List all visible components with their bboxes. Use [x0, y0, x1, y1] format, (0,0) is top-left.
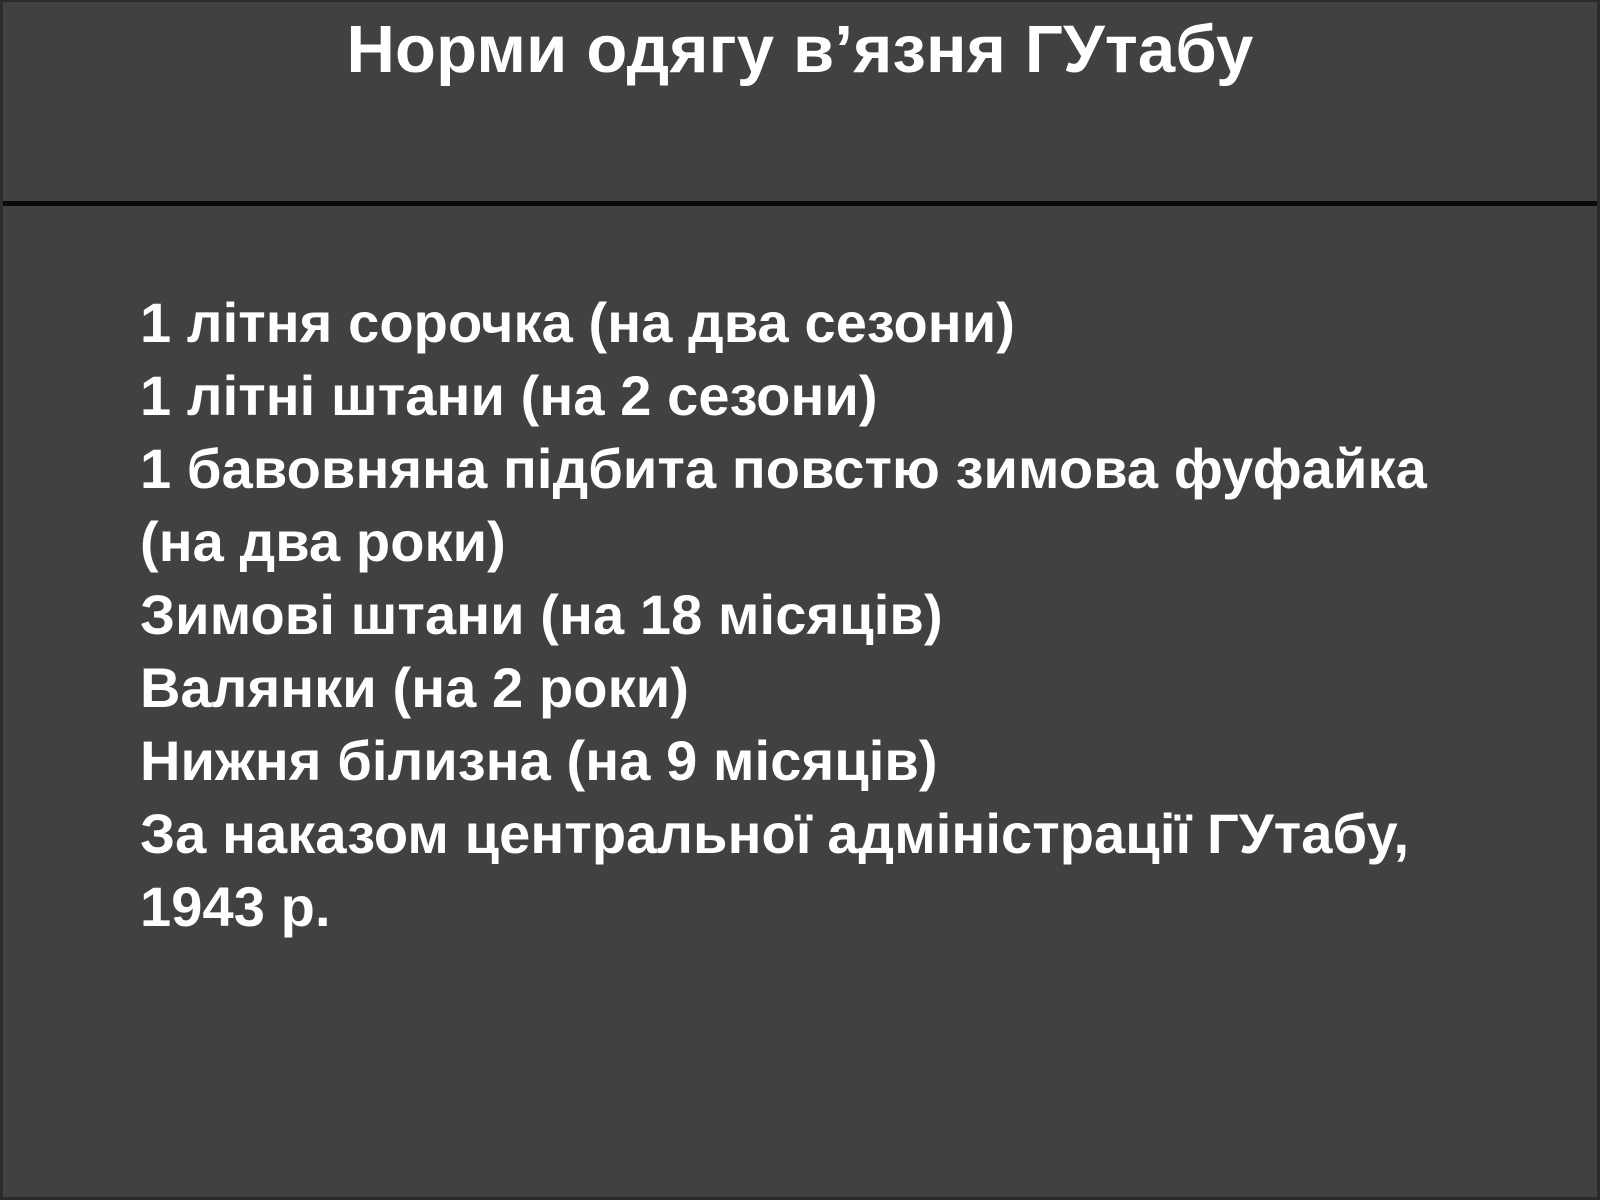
- content-line: Зимові штани (на 18 місяців): [140, 578, 1560, 651]
- content-line: 1 літні штани (на 2 сезони): [140, 359, 1560, 432]
- page-title: Норми одягу в’язня ГУтабу: [3, 10, 1597, 89]
- content-line: Валянки (на 2 роки): [140, 651, 1560, 724]
- content-text-block: 1 літня сорочка (на два сезони) 1 літні …: [140, 286, 1560, 943]
- slide-body: 1 літня сорочка (на два сезони) 1 літні …: [3, 206, 1597, 1197]
- slide-title-band: Норми одягу в’язня ГУтабу: [3, 2, 1597, 202]
- content-line: 1 бавовняна підбита повстю зимова фуфайк…: [140, 432, 1560, 505]
- content-line: 1 літня сорочка (на два сезони): [140, 286, 1560, 359]
- presentation-slide: Норми одягу в’язня ГУтабу 1 літня сорочк…: [0, 0, 1600, 1200]
- content-line: 1943 р.: [140, 870, 1560, 943]
- content-line: Нижня білизна (на 9 місяців): [140, 724, 1560, 797]
- content-line: (на два роки): [140, 505, 1560, 578]
- content-line: За наказом центральної адміністрації ГУт…: [140, 797, 1560, 870]
